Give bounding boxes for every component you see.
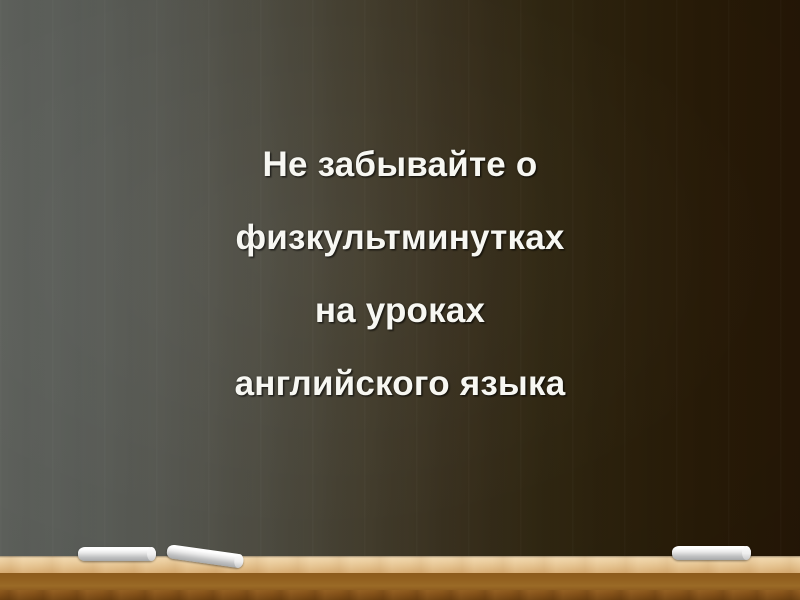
chalk-ledge (0, 556, 800, 600)
chalk-stick-left (78, 547, 156, 561)
chalk-stick-right (672, 546, 751, 560)
chalkboard-slide: Не забывайте о физкультминутках на урока… (0, 0, 800, 600)
title-line-1: Не забывайте о (0, 128, 800, 201)
title-line-4: английского языка (0, 347, 800, 420)
chalk-ledge-front-face (0, 573, 800, 600)
slide-title-block: Не забывайте о физкультминутках на урока… (0, 128, 800, 420)
chalk-ledge-front-grain (0, 590, 800, 600)
title-line-3: на уроках (0, 274, 800, 347)
title-line-2: физкультминутках (0, 201, 800, 274)
